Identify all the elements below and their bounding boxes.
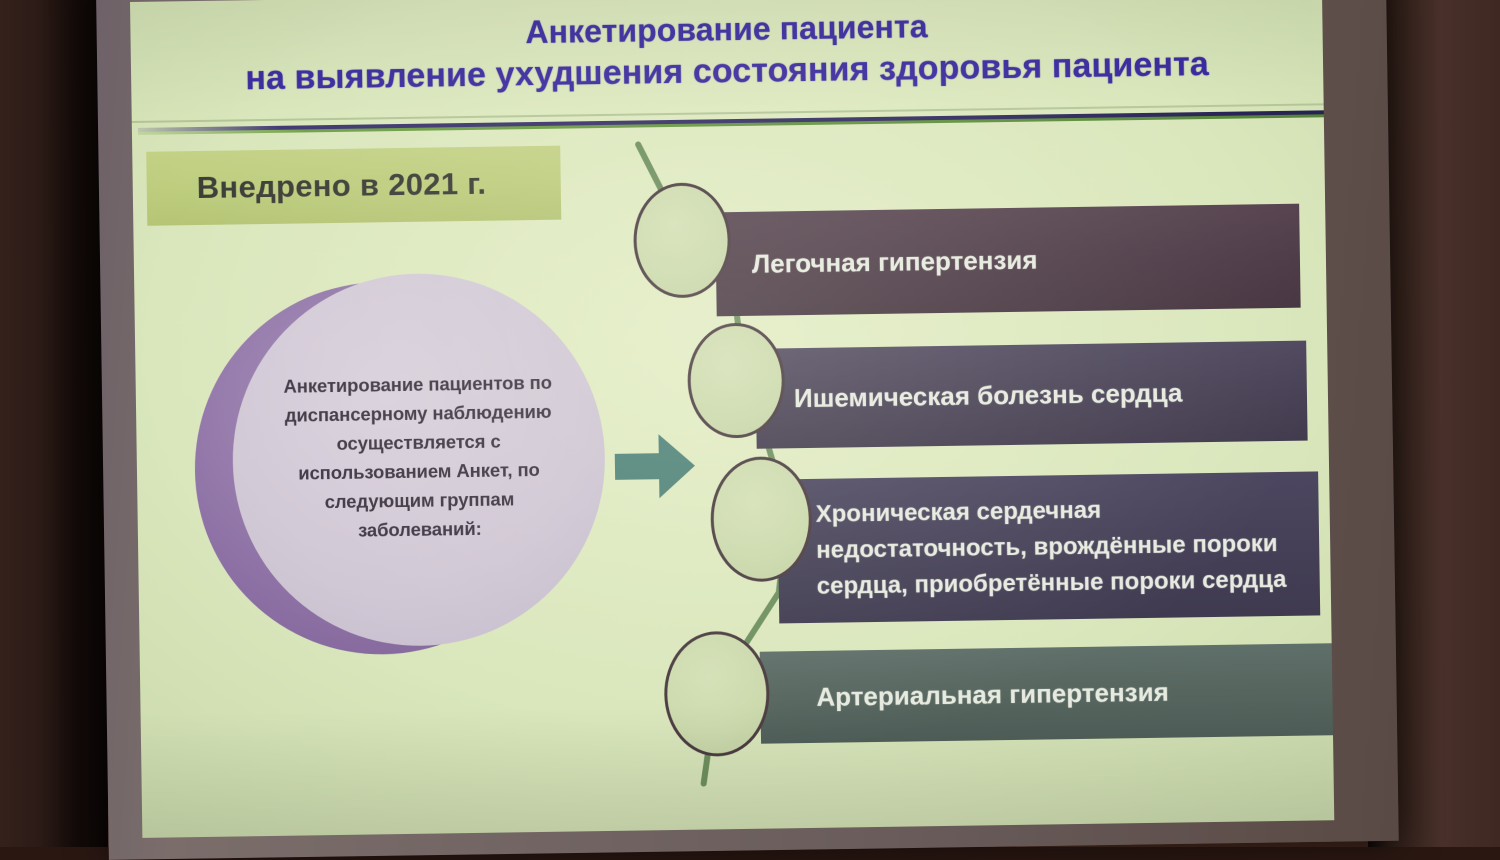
- disease-bar-3-line-1: Хроническая сердечная: [815, 497, 1101, 528]
- disease-bar-1[interactable]: Легочная гипертензия: [715, 204, 1300, 317]
- year-banner-label: Внедрено в 2021 г.: [197, 166, 487, 206]
- disease-bar-2-label: Ишемическая болезнь сердца: [794, 377, 1183, 414]
- presentation-slide: Анкетирование пациента на выявление ухуд…: [130, 0, 1334, 838]
- disease-bar-3-label: Хроническая сердечная недостаточность, в…: [815, 490, 1286, 605]
- disease-bar-3-line-3: сердца, приобретённые пороки сердца: [817, 566, 1287, 600]
- node-circle-4: [663, 631, 770, 758]
- disease-bar-2[interactable]: Ишемическая болезнь сердца: [755, 341, 1307, 449]
- room-background: Анкетирование пациента на выявление ухуд…: [0, 0, 1500, 847]
- disease-bar-3[interactable]: Хроническая сердечная недостаточность, в…: [777, 471, 1320, 623]
- disease-bar-4[interactable]: Артериальная гипертензия: [760, 643, 1335, 744]
- right-arrow-icon: [612, 431, 697, 502]
- disease-bar-3-line-2: недостаточность, врождённые пороки: [816, 530, 1278, 564]
- year-banner: Внедрено в 2021 г.: [146, 146, 561, 226]
- description-circle-text: Анкетирование пациентов по диспансерному…: [263, 367, 576, 552]
- wall-left: [0, 0, 108, 847]
- slide-title: Анкетирование пациента на выявление ухуд…: [130, 0, 1323, 102]
- disease-bar-1-label: Легочная гипертензия: [752, 244, 1038, 279]
- disease-bar-4-label: Артериальная гипертензия: [816, 676, 1169, 712]
